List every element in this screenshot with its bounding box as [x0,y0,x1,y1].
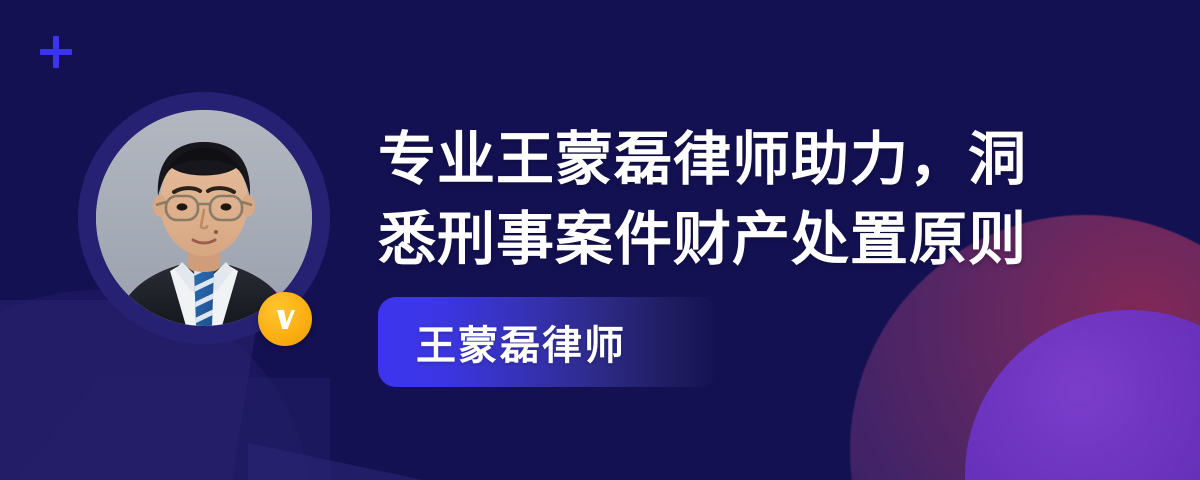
lawyer-name-pill[interactable]: 王蒙磊律师 [378,297,718,387]
lawyer-name-label: 王蒙磊律师 [378,313,626,371]
verified-badge [258,292,312,346]
avatar [78,92,330,344]
page-title: 专业王蒙磊律师助力，洞 悉刑事案件财产处置原则 [378,120,1178,280]
lawyer-promo-banner: 专业王蒙磊律师助力，洞 悉刑事案件财产处置原则 王蒙磊律师 [0,0,1200,480]
verified-check-icon [269,303,301,335]
plus-icon [40,36,72,68]
